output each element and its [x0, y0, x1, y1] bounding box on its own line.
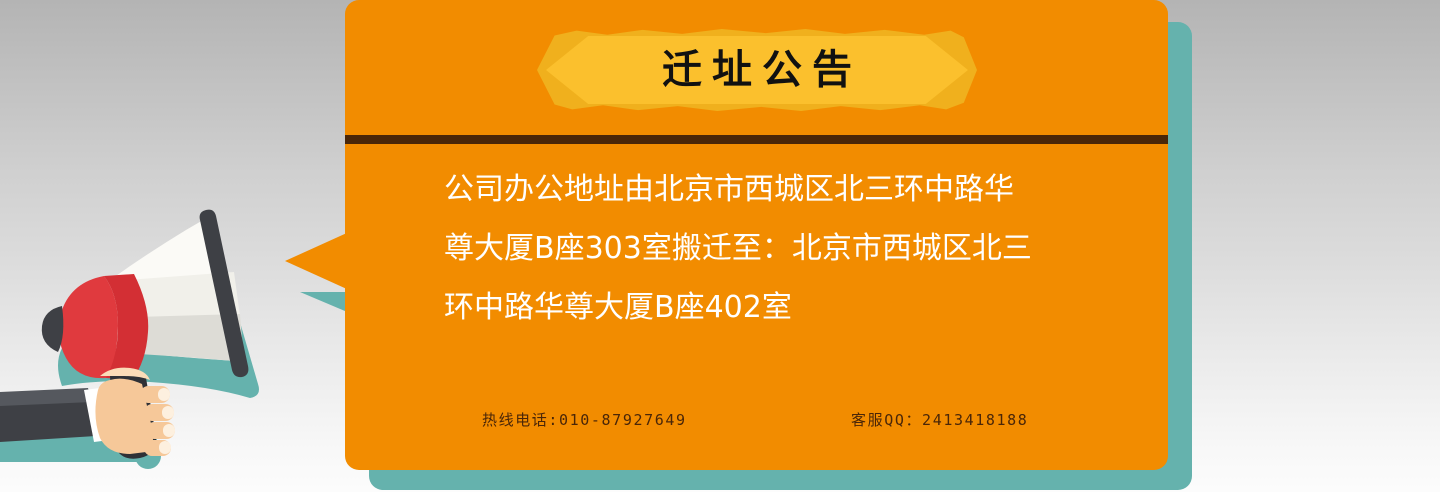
nail-4	[159, 441, 171, 454]
megaphone-icon	[0, 186, 300, 492]
notice-body-line-3: 环中路华尊大厦B座402室	[444, 278, 1094, 337]
announcement-banner: 迁址公告 公司办公地址由北京市西城区北三环中路华 尊大厦B座303室搬迁至：北京…	[0, 0, 1440, 492]
nail-1	[158, 388, 170, 401]
megaphone-illustration	[0, 186, 300, 492]
customer-service-qq-text: 客服QQ：2413418188	[851, 406, 1028, 434]
speech-tail	[285, 232, 349, 290]
nail-3	[163, 424, 175, 437]
notice-body: 公司办公地址由北京市西城区北三环中路华 尊大厦B座303室搬迁至：北京市西城区北…	[444, 160, 1094, 337]
notice-footer: 热线电话:010-87927649 客服QQ：2413418188	[345, 406, 1168, 438]
title-divider	[345, 135, 1168, 144]
nail-2	[162, 406, 174, 419]
title-banner: 迁址公告	[537, 29, 977, 111]
notice-body-line-1: 公司办公地址由北京市西城区北三环中路华	[444, 160, 1094, 219]
page-title: 迁址公告	[537, 29, 977, 111]
notice-body-line-2: 尊大厦B座303室搬迁至：北京市西城区北三	[444, 219, 1094, 278]
notice-card: 迁址公告 公司办公地址由北京市西城区北三环中路华 尊大厦B座303室搬迁至：北京…	[345, 0, 1168, 470]
megaphone-rear-nub	[42, 306, 64, 352]
hotline-text: 热线电话:010-87927649	[482, 406, 687, 434]
